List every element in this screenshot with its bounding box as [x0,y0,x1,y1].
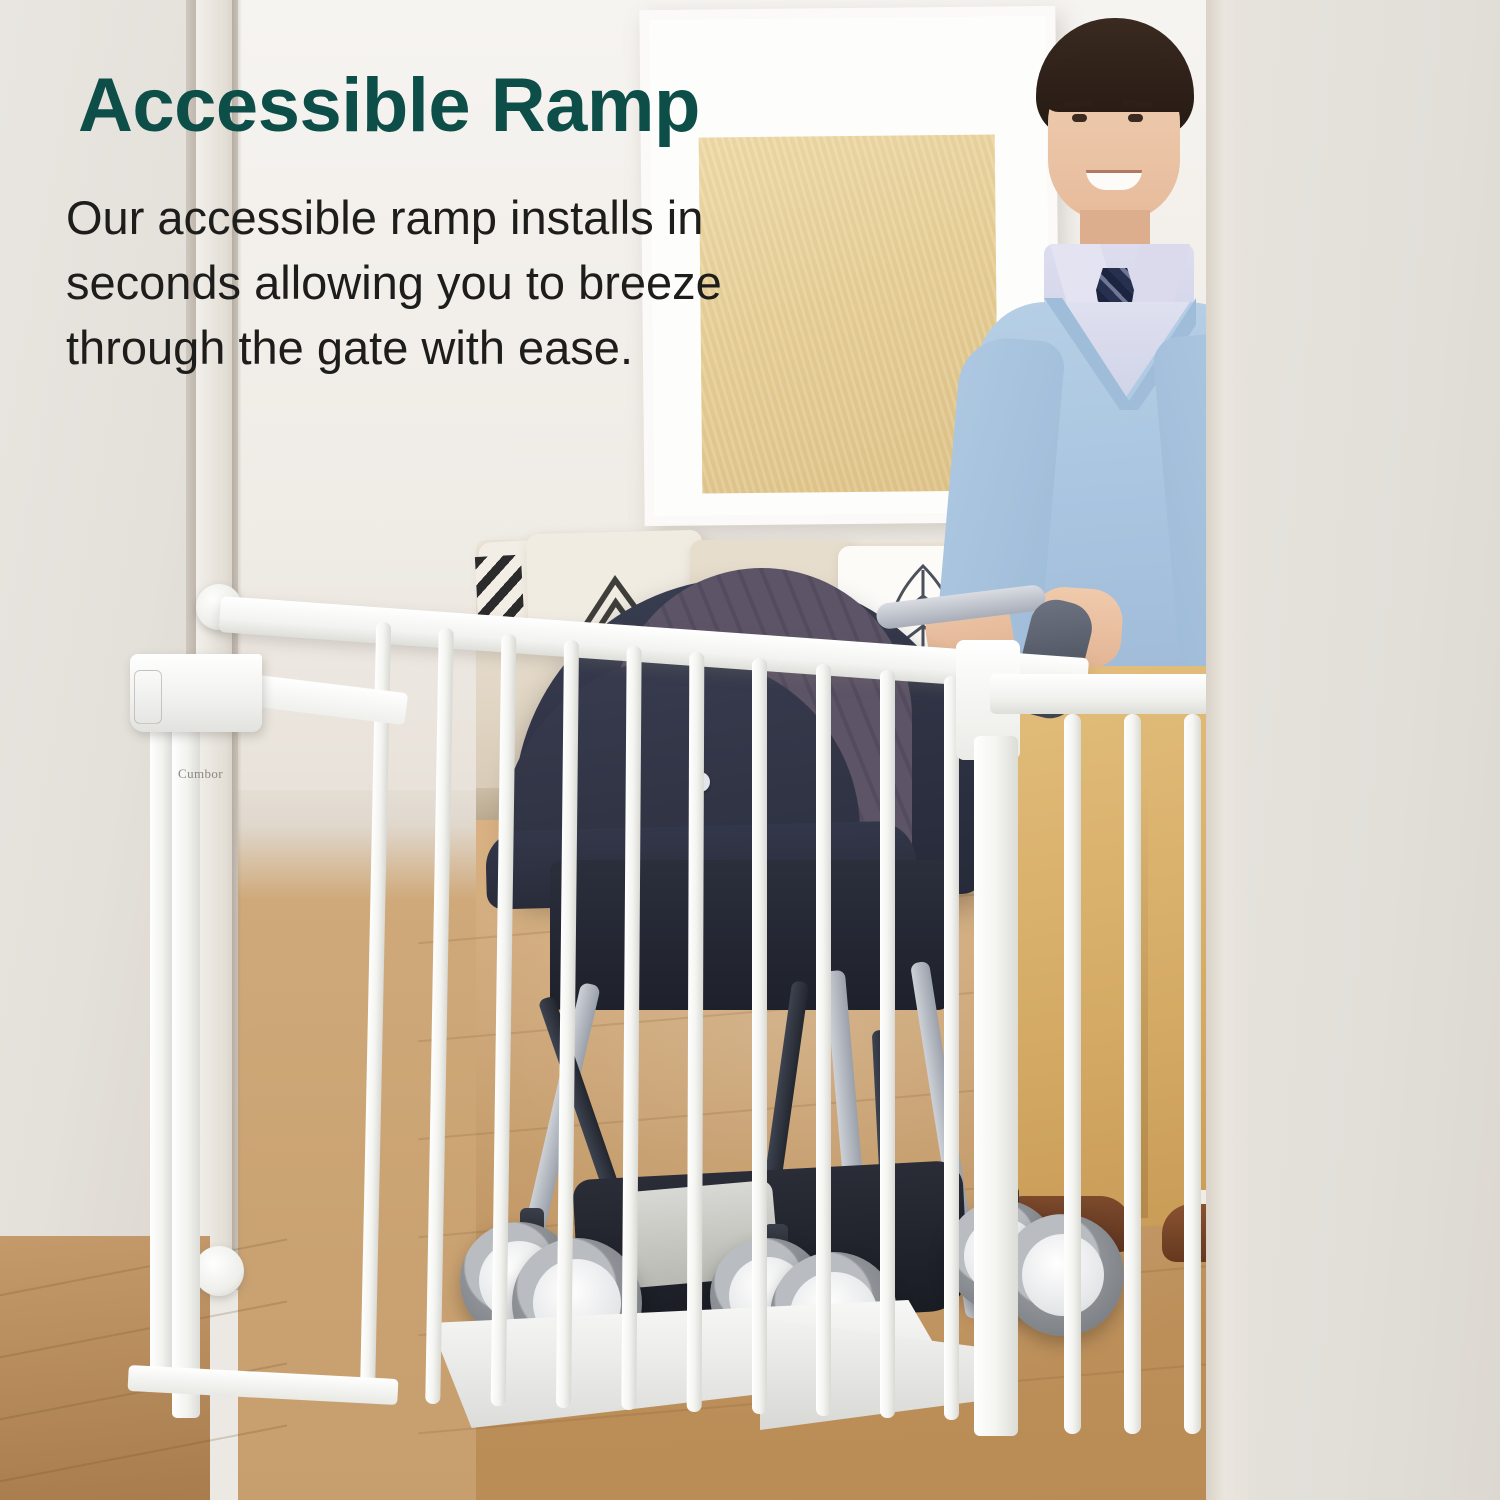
gate-bottom-rail [128,1365,399,1405]
pressure-mount-knob-bottom [194,1246,244,1296]
page-title: Accessible Ramp [78,68,700,144]
description-line-2: seconds allowing you to breeze [66,251,886,316]
gate-right-post [974,736,1018,1436]
description-line-1: Our accessible ramp installs in [66,186,886,251]
description-line-3: through the gate with ease. [66,316,886,381]
door-jamb-right [1206,0,1252,1500]
description-text: Our accessible ramp installs in seconds … [66,186,886,381]
gate-bar [1064,714,1081,1434]
product-marketing-image: Cumbor Accessible Ramp Our accessible ra… [0,0,1500,1500]
gate-bar [1184,714,1201,1434]
gate-bar [1124,714,1141,1434]
right-wall [1248,0,1500,1500]
